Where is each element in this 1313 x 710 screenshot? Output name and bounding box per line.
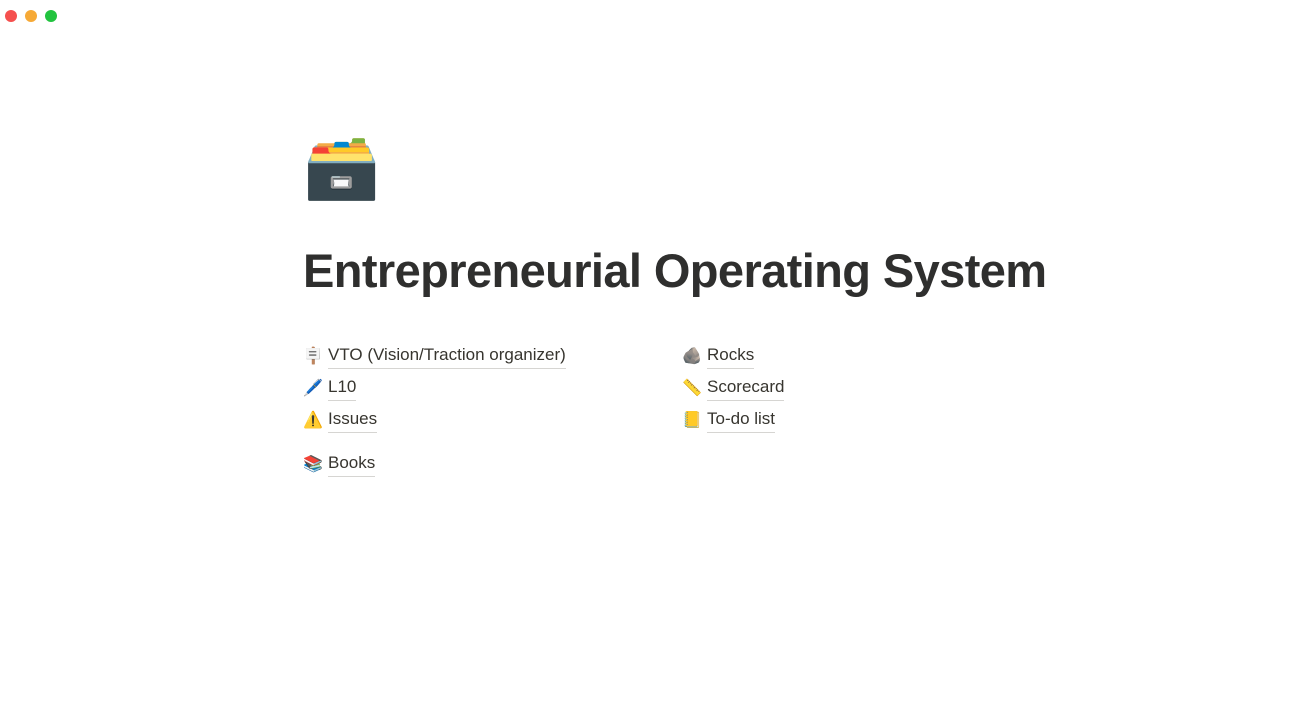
list-item-books[interactable]: 📚 Books [303, 448, 682, 480]
left-column: 🪧 VTO (Vision/Traction organizer) 🖊️ L10… [303, 340, 682, 480]
list-item-label[interactable]: Issues [328, 407, 377, 434]
list-item-label[interactable]: VTO (Vision/Traction organizer) [328, 343, 566, 370]
link-columns: 🪧 VTO (Vision/Traction organizer) 🖊️ L10… [303, 340, 1263, 480]
books-icon: 📚 [303, 456, 322, 472]
rock-icon: 🪨 [682, 348, 701, 364]
list-item-issues[interactable]: ⚠️ Issues [303, 404, 682, 436]
list-item-label[interactable]: Scorecard [707, 375, 784, 402]
ledger-icon: 📒 [682, 412, 701, 428]
straight-ruler-icon: 📏 [682, 380, 701, 396]
warning-icon: ⚠️ [303, 412, 322, 428]
list-item-scorecard[interactable]: 📏 Scorecard [682, 372, 1082, 404]
placard-icon: 🪧 [303, 348, 322, 364]
list-item-label[interactable]: To-do list [707, 407, 775, 434]
list-item-label[interactable]: Books [328, 451, 375, 478]
page-title[interactable]: Entrepreneurial Operating System [303, 243, 1046, 299]
right-column: 🪨 Rocks 📏 Scorecard 📒 To-do list [682, 340, 1082, 436]
card-file-box-icon[interactable]: 🗃️ [303, 136, 380, 198]
list-item-label[interactable]: L10 [328, 375, 356, 402]
list-item-l10[interactable]: 🖊️ L10 [303, 372, 682, 404]
list-item-label[interactable]: Rocks [707, 343, 754, 370]
page-content: 🗃️ Entrepreneurial Operating System 🪧 VT… [0, 0, 1313, 710]
list-item-rocks[interactable]: 🪨 Rocks [682, 340, 1082, 372]
pen-icon: 🖊️ [303, 380, 322, 396]
list-item-todo-list[interactable]: 📒 To-do list [682, 404, 1082, 436]
list-item-vto[interactable]: 🪧 VTO (Vision/Traction organizer) [303, 340, 682, 372]
